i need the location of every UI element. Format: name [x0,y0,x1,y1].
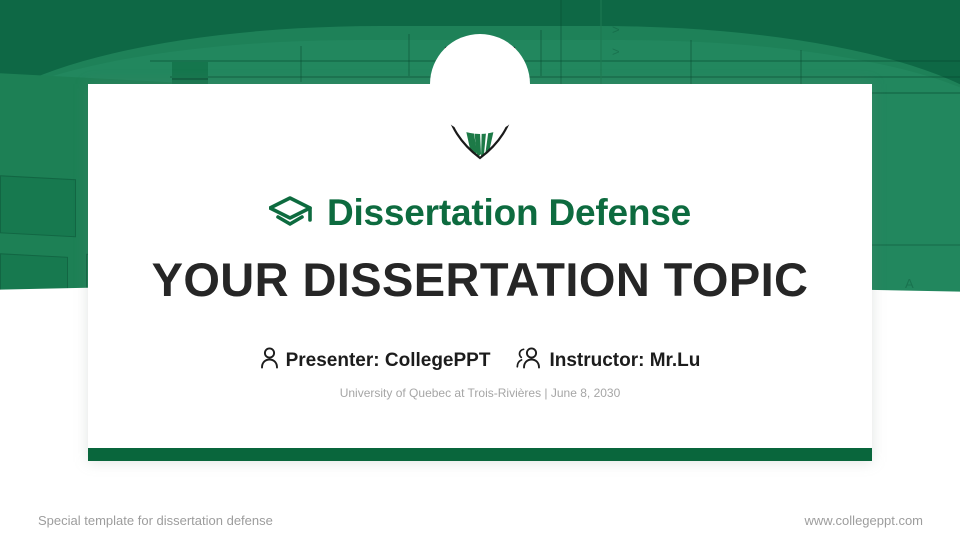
card-accent-bar [88,448,872,461]
presenter-label: Presenter: CollegePPT [286,350,491,372]
dissertation-defense-heading: Dissertation Defense [0,192,960,234]
footer-right-url: www.collegeppt.com [805,513,924,528]
graduation-cap-icon [269,195,313,231]
instructor-label: Instructor: Mr.Lu [549,350,700,372]
university-and-date-line: University of Quebec at Trois-Rivières |… [0,386,960,400]
facade-rib [540,30,542,76]
person-icon [260,347,279,374]
dissertation-topic-title: YOUR DISSERTATION TOPIC [0,252,960,307]
people-group-icon [516,347,542,374]
university-crest [426,34,534,162]
instructor-item: Instructor: Mr.Lu [516,347,700,374]
footer-left-text: Special template for dissertation defens… [38,513,273,528]
presenter-item: Presenter: CollegePPT [260,347,491,374]
crest-halo [430,34,530,134]
heading-label: Dissertation Defense [327,192,691,234]
people-row: Presenter: CollegePPT Instructor: Mr.Lu [0,347,960,374]
facade-mullion [150,60,960,62]
facade-rib [690,40,692,84]
facade-rib [300,46,302,82]
facade-mullion [170,76,960,78]
slide-canvas: A > > [0,0,960,540]
facade-rib [408,34,410,76]
background-faint-mark: > [612,22,621,37]
background-faint-mark: > [612,44,621,59]
